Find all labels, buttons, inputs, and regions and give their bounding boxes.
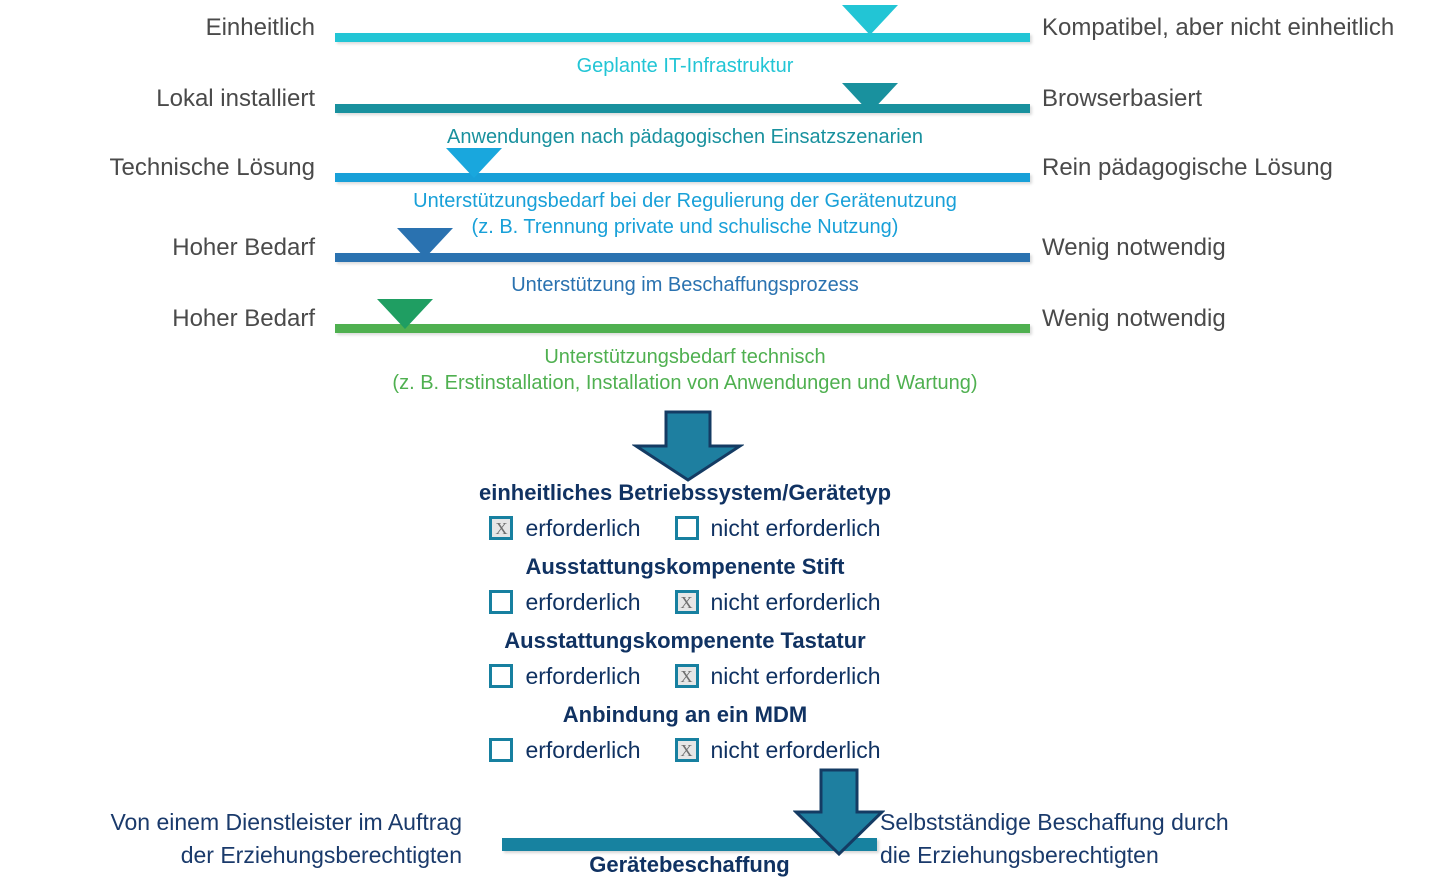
decision-option[interactable]: Xnicht erforderlich: [675, 590, 881, 614]
spectrum-left-pole-label: Technische Lösung: [110, 156, 315, 180]
checkbox-checked-icon[interactable]: X: [489, 516, 513, 540]
spectrum-caption: Unterstützungsbedarf bei der Regulierung…: [0, 188, 1370, 241]
spectrum-bar[interactable]: [335, 324, 1030, 333]
checkbox-unchecked-icon[interactable]: [489, 738, 513, 762]
decision-heading: Ausstattungskompenente Stift: [0, 556, 1370, 578]
spectrum-bar[interactable]: [335, 173, 1030, 182]
checkbox-unchecked-icon[interactable]: [675, 516, 699, 540]
spectrum-marker-triangle-icon[interactable]: [377, 299, 433, 329]
decision-option-label: erforderlich: [525, 591, 640, 614]
spectrum-left-pole-label: Einheitlich: [206, 16, 315, 40]
spectrum-marker-triangle-icon[interactable]: [446, 148, 502, 178]
decision-heading: Anbindung an ein MDM: [0, 704, 1370, 726]
spectrum-right-pole-label: Wenig notwendig: [1042, 236, 1226, 260]
spectrum-right-pole-label: Wenig notwendig: [1042, 307, 1226, 331]
spectrum-marker-triangle-icon[interactable]: [842, 5, 898, 35]
spectrum-caption: Unterstützungsbedarf technisch (z. B. Er…: [0, 344, 1370, 397]
decision-option-row: Xerforderlichnicht erforderlich: [0, 516, 1370, 540]
spectrum-left-pole-label: Hoher Bedarf: [172, 307, 315, 331]
decision-option-label: nicht erforderlich: [711, 665, 881, 688]
decision-option-row: erforderlichXnicht erforderlich: [0, 590, 1370, 614]
spectrum-marker-triangle-icon[interactable]: [397, 228, 453, 258]
spectrum-caption: Geplante IT-Infrastruktur: [0, 53, 1370, 79]
decision-option[interactable]: Xnicht erforderlich: [675, 738, 881, 762]
spectrum-left-pole-label: Lokal installiert: [156, 87, 315, 111]
decision-option[interactable]: Xnicht erforderlich: [675, 664, 881, 688]
decision-option[interactable]: erforderlich: [489, 664, 640, 688]
decision-option-label: nicht erforderlich: [711, 739, 881, 762]
spectrum-caption: Anwendungen nach pädagogischen Einsatzsz…: [0, 124, 1370, 150]
checkbox-checked-icon[interactable]: X: [675, 664, 699, 688]
procurement-left-label: Von einem Dienstleister im Auftrag der E…: [2, 806, 462, 871]
spectrum-marker-triangle-icon[interactable]: [842, 83, 898, 113]
checkbox-checked-icon[interactable]: X: [675, 590, 699, 614]
decision-option[interactable]: erforderlich: [489, 590, 640, 614]
decision-option[interactable]: nicht erforderlich: [675, 516, 881, 540]
diagram-canvas: EinheitlichKompatibel, aber nicht einhei…: [0, 0, 1440, 884]
decision-option[interactable]: erforderlich: [489, 738, 640, 762]
spectrum-bar[interactable]: [335, 33, 1030, 42]
checkbox-unchecked-icon[interactable]: [489, 590, 513, 614]
spectrum-right-pole-label: Rein pädagogische Lösung: [1042, 156, 1333, 180]
decision-heading: Ausstattungskompenente Tastatur: [0, 630, 1370, 652]
decision-option-label: nicht erforderlich: [711, 591, 881, 614]
decision-option-label: erforderlich: [525, 739, 640, 762]
decision-option-label: nicht erforderlich: [711, 517, 881, 540]
decision-option-label: erforderlich: [525, 517, 640, 540]
decision-option[interactable]: Xerforderlich: [489, 516, 640, 540]
spectrum-left-pole-label: Hoher Bedarf: [172, 236, 315, 260]
decision-option-row: erforderlichXnicht erforderlich: [0, 738, 1370, 762]
checkbox-checked-icon[interactable]: X: [675, 738, 699, 762]
spectrum-bar[interactable]: [335, 104, 1030, 113]
spectrum-right-pole-label: Kompatibel, aber nicht einheitlich: [1042, 16, 1394, 40]
down-arrow-to-procurement-icon: [793, 768, 885, 861]
decision-option-label: erforderlich: [525, 665, 640, 688]
spectrum-caption: Unterstützung im Beschaffungsprozess: [0, 272, 1370, 298]
down-arrow-to-decisions-icon: [632, 410, 744, 487]
spectrum-right-pole-label: Browserbasiert: [1042, 87, 1202, 111]
decision-option-row: erforderlichXnicht erforderlich: [0, 664, 1370, 688]
checkbox-unchecked-icon[interactable]: [489, 664, 513, 688]
decision-block: einheitliches Betriebssystem/GerätetypXe…: [0, 482, 1370, 762]
procurement-right-label: Selbstständige Beschaffung durch die Erz…: [880, 806, 1350, 871]
